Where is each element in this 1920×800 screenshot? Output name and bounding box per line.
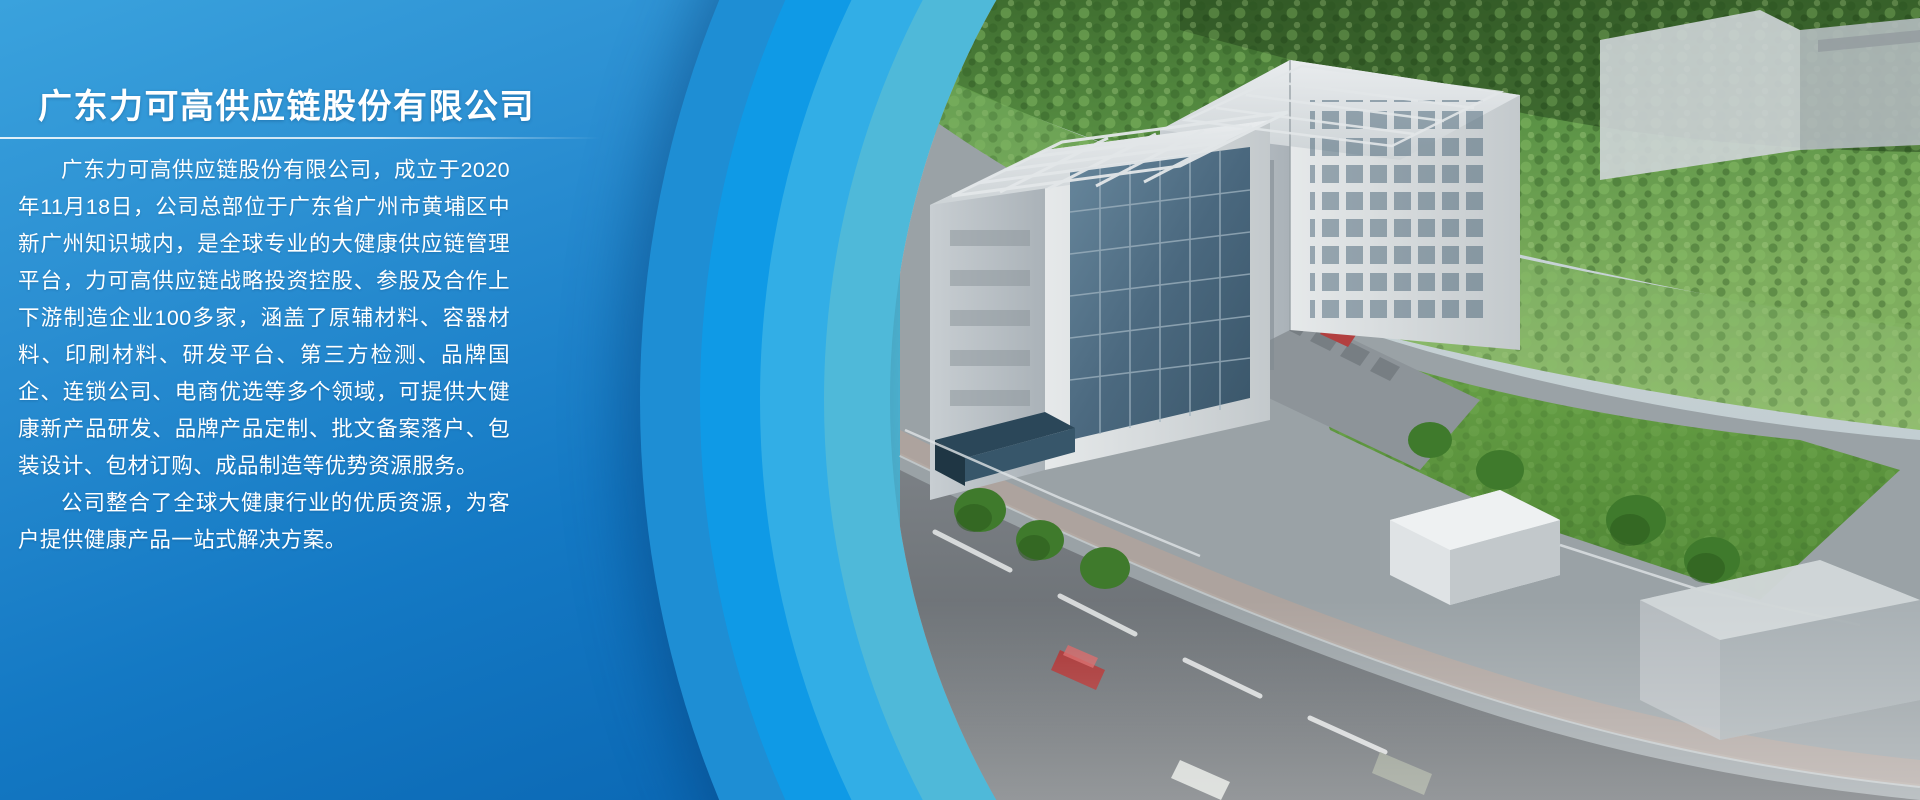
- description-paragraph-1: 广东力可高供应链股份有限公司，成立于2020年11月18日，公司总部位于广东省广…: [18, 152, 510, 485]
- description-paragraph-2: 公司整合了全球大健康行业的优质资源，为客户提供健康产品一站式解决方案。: [18, 485, 510, 559]
- page-title: 广东力可高供应链股份有限公司: [38, 79, 535, 128]
- aerial-park-photo: [890, 0, 1920, 800]
- company-description: 广东力可高供应链股份有限公司，成立于2020年11月18日，公司总部位于广东省广…: [18, 152, 510, 559]
- title-divider: [0, 137, 600, 139]
- company-profile-banner: 广东力可高供应链股份有限公司 广东力可高供应链股份有限公司，成立于2020年11…: [0, 0, 1920, 800]
- text-panel: 广东力可高供应链股份有限公司 广东力可高供应链股份有限公司，成立于2020年11…: [0, 0, 620, 800]
